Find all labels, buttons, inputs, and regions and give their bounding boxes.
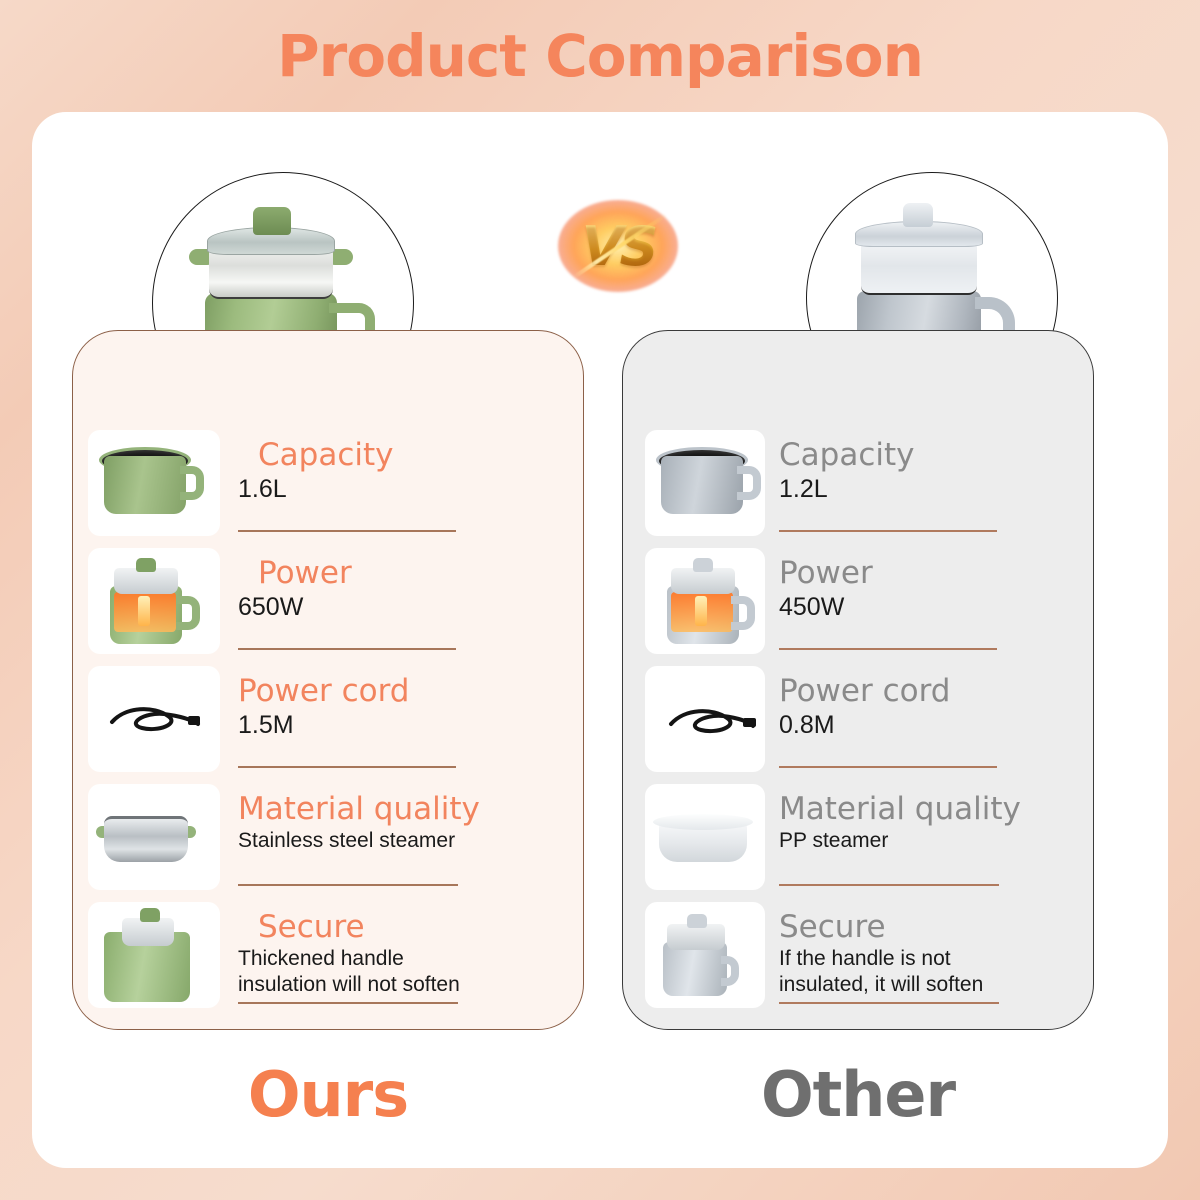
thumbnail-power-cord [645,666,765,772]
spec-row-power[interactable]: Power 650W [88,548,578,666]
spec-row-capacity[interactable]: Capacity 1.6L [88,430,578,548]
row-divider [238,648,456,650]
lid-knob-icon [903,203,933,227]
row-divider [238,884,458,886]
spec-row-secure[interactable]: Secure If the handle is not insulated, i… [645,902,1065,1020]
spec-label: Material quality [238,790,578,828]
row-divider [779,530,997,532]
spec-list-other: Capacity 1.2L Power 450W Power cord 0.8M [645,430,1065,1020]
page-title: Product Comparison [0,22,1200,90]
spec-value: 450W [779,592,1065,623]
spec-label: Capacity [238,436,578,474]
thumbnail-power [88,548,220,654]
spec-value: PP steamer [779,828,1065,854]
row-divider [779,648,997,650]
thumbnail-power [645,548,765,654]
spec-label: Capacity [779,436,1065,474]
spec-value: If the handle is not [779,946,1065,972]
thumbnail-material-quality [88,784,220,890]
footer-label-other: Other [622,1058,1094,1131]
lid-knob-icon [253,207,291,235]
spec-value: 1.6L [238,474,578,505]
spec-list-ours: Capacity 1.6L Power 650W Power cord 1.5M [88,430,578,1020]
spec-row-capacity[interactable]: Capacity 1.2L [645,430,1065,548]
spec-value-line2: insulation will not soften [238,972,578,998]
spec-label: Secure [779,908,1065,946]
vs-badge: VS [548,194,688,298]
row-divider [238,1002,458,1004]
spec-row-material-quality[interactable]: Material quality PP steamer [645,784,1065,902]
row-divider [238,766,456,768]
spec-label: Material quality [779,790,1065,828]
spec-label: Power cord [238,672,578,710]
spec-label: Power [238,554,578,592]
spec-value: 650W [238,592,578,623]
thumbnail-capacity [645,430,765,536]
spec-label: Power cord [779,672,1065,710]
spec-label: Secure [238,908,578,946]
spec-label: Power [779,554,1065,592]
row-divider [238,530,456,532]
thumbnail-power-cord [88,666,220,772]
spec-row-power-cord[interactable]: Power cord 1.5M [88,666,578,784]
steamer-basket-icon [861,239,977,295]
thumbnail-material-quality [645,784,765,890]
power-cord-icon [106,702,202,738]
spec-row-secure[interactable]: Secure Thickened handle insulation will … [88,902,578,1020]
spec-value: 1.5M [238,710,578,741]
row-divider [779,884,999,886]
thumbnail-capacity [88,430,220,536]
spec-value-line2: insulated, it will soften [779,972,1065,998]
spec-row-power-cord[interactable]: Power cord 0.8M [645,666,1065,784]
spec-value: Stainless steel steamer [238,828,578,854]
spec-row-power[interactable]: Power 450W [645,548,1065,666]
spec-value: 1.2L [779,474,1065,505]
footer-label-ours: Ours [72,1058,584,1131]
power-cord-icon [663,702,759,738]
spec-value: Thickened handle [238,946,578,972]
thumbnail-secure [645,902,765,1008]
row-divider [779,1002,999,1004]
spec-value: 0.8M [779,710,1065,741]
row-divider [779,766,997,768]
spec-row-material-quality[interactable]: Material quality Stainless steel steamer [88,784,578,902]
thumbnail-secure [88,902,220,1008]
